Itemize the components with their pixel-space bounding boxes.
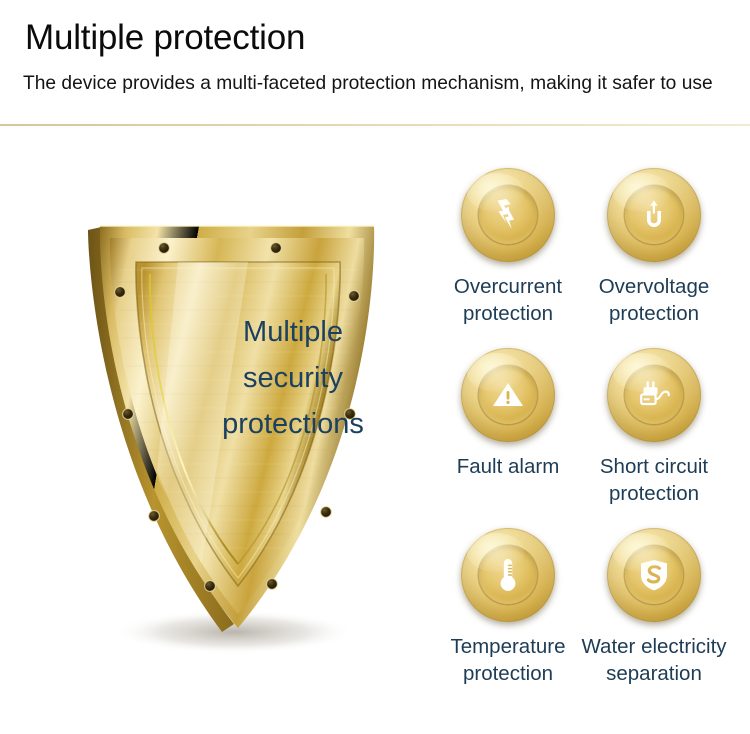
badge-inner (479, 366, 537, 424)
badge-temperature[interactable] (461, 528, 555, 622)
feature-item-overcurrent[interactable]: Overcurrent protection (435, 168, 581, 328)
badge-inner (625, 366, 683, 424)
label-line-1: Temperature (435, 633, 581, 660)
feature-item-short-circuit[interactable]: Short circuit protection (581, 348, 727, 508)
label-line-1: Overcurrent (435, 273, 581, 300)
shield-svg (58, 200, 418, 670)
badge-inner (479, 546, 537, 604)
badge-inner (479, 186, 537, 244)
label-line-2: separation (581, 660, 727, 687)
overvoltage-u-arrow-icon (639, 198, 669, 232)
thermometer-icon (496, 557, 520, 593)
label-line-2: protection (435, 300, 581, 327)
label-line-2: protection (435, 660, 581, 687)
header-divider (0, 124, 750, 126)
badge-inner (625, 186, 683, 244)
badge-overvoltage[interactable] (607, 168, 701, 262)
label-line-1: Water electricity (581, 633, 727, 660)
feature-item-water-electricity[interactable]: Water electricity separation (581, 528, 727, 688)
page-header: Multiple protection The device provides … (0, 0, 750, 125)
label-line-2: protection (581, 300, 727, 327)
label-line-1: Fault alarm (435, 453, 581, 480)
feature-label-overcurrent: Overcurrent protection (435, 273, 581, 328)
feature-icon-grid: Overcurrent protection Overvoltage prote… (435, 168, 735, 718)
power-plug-icon (637, 379, 671, 411)
shield-s-icon (638, 558, 670, 592)
badge-overcurrent[interactable] (461, 168, 555, 262)
feature-label-water-electricity: Water electricity separation (581, 633, 727, 688)
feature-label-overvoltage: Overvoltage protection (581, 273, 727, 328)
feature-item-overvoltage[interactable]: Overvoltage protection (581, 168, 727, 328)
feature-label-short-circuit: Short circuit protection (581, 453, 727, 508)
badge-water-electricity[interactable] (607, 528, 701, 622)
lightning-bolt-icon (493, 198, 523, 232)
badge-fault-alarm[interactable] (461, 348, 555, 442)
shield-illustration: Multiple security protections (58, 200, 418, 670)
feature-label-temperature: Temperature protection (435, 633, 581, 688)
feature-item-fault-alarm[interactable]: Fault alarm (435, 348, 581, 480)
page-subtitle: The device provides a multi-faceted prot… (23, 72, 728, 95)
label-line-1: Short circuit (581, 453, 727, 480)
warning-triangle-icon (491, 380, 525, 410)
badge-short-circuit[interactable] (607, 348, 701, 442)
shield-graphic: Multiple security protections (58, 200, 418, 670)
label-line-1: Overvoltage (581, 273, 727, 300)
page-title: Multiple protection (25, 18, 305, 58)
badge-inner (625, 546, 683, 604)
feature-label-fault-alarm: Fault alarm (435, 453, 581, 480)
feature-item-temperature[interactable]: Temperature protection (435, 528, 581, 688)
label-line-2: protection (581, 480, 727, 507)
